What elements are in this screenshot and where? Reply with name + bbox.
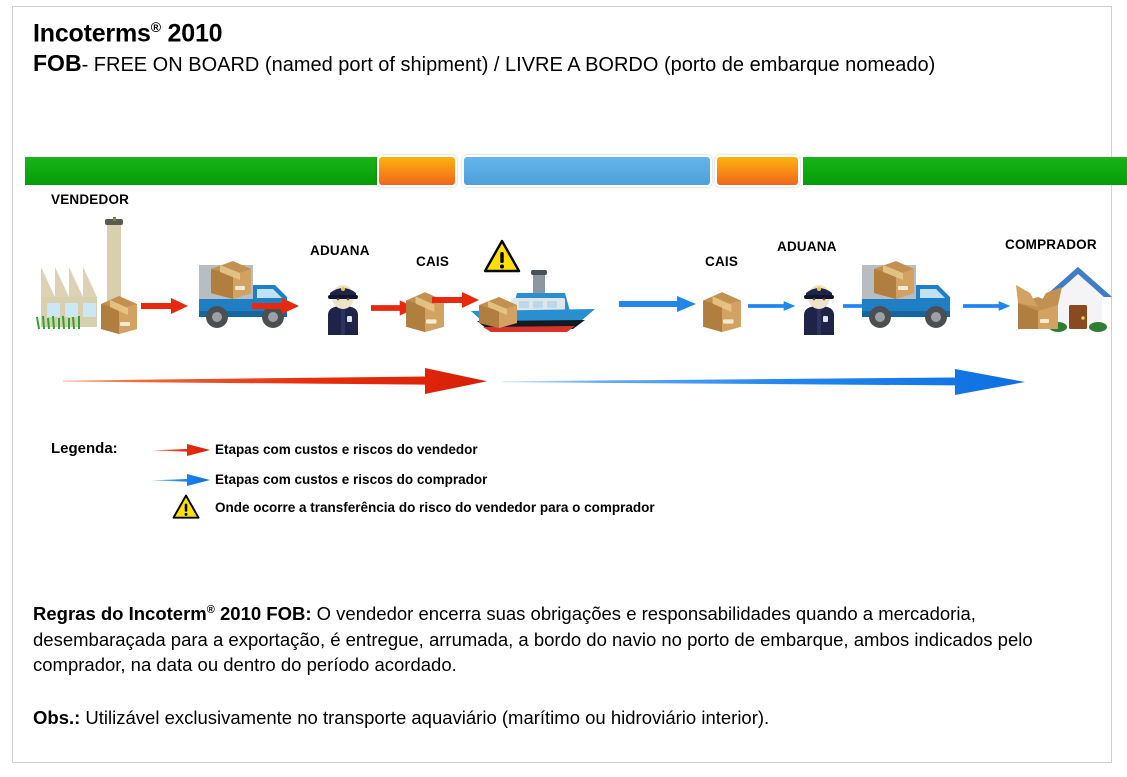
label-aduana-2: ADUANA [777,239,837,254]
ground-strip [25,157,1127,185]
page-frame: Incoterms® 2010 FOB- FREE ON BOARD (name… [12,6,1112,763]
seller-step-arrow-icon [252,297,300,315]
seller-step-arrow-icon [141,297,189,315]
buyer-step-arrow-icon [963,297,1011,315]
ground-segment-quay-left [377,155,457,187]
legend-item-seller-label: Etapas com custos e riscos do vendedor [215,442,478,457]
label-cais-2: CAIS [705,254,738,269]
ship-icon [465,265,625,335]
rules-label-tail: 2010 FOB: [215,603,312,624]
risk-responsibility-arrows [25,359,1125,405]
term-description: - FREE ON BOARD (named port of shipment)… [82,54,936,76]
obs-label: Obs.: [33,707,80,728]
label-comprador: COMPRADOR [1005,237,1097,252]
package-box-icon [98,293,140,335]
buyer-risk-arrow-icon [503,369,1025,395]
legend: Legenda: Etapas com custos e riscos do v… [13,432,1113,527]
legend-red-arrow-icon [151,442,211,458]
buyer-step-arrow-icon [748,297,796,315]
title-year: 2010 [161,19,223,47]
header: Incoterms® 2010 FOB- FREE ON BOARD (name… [33,19,1093,78]
page-subtitle: FOB- FREE ON BOARD (named port of shipme… [33,50,1093,78]
legend-title: Legenda: [51,440,118,457]
label-vendedor: VENDEDOR [51,192,129,207]
risk-arrows-svg [25,359,1125,405]
seller-risk-arrow-icon [63,368,487,394]
package-box-icon [700,289,744,333]
obs-text: Utilizável exclusivamente no transporte … [80,707,769,728]
label-aduana-1: ADUANA [310,243,370,258]
legend-blue-arrow-icon [151,472,211,488]
ground-segment-green-left [25,157,377,185]
registered-mark-icon: ® [151,19,161,35]
incoterm-rules-paragraph: Regras do Incoterm® 2010 FOB: O vendedor… [33,601,1089,678]
legend-item-risk-label: Onde ocorre a transferência do risco do … [215,500,655,515]
rules-registered-mark-icon: ® [207,604,215,616]
term-code: FOB [33,50,82,76]
buyer-step-arrow-icon [619,295,697,313]
customs-officer-icon [321,281,365,335]
ground-segment-quay-right [715,155,800,187]
incoterms-fob-diagram-page: Incoterms® 2010 FOB- FREE ON BOARD (name… [0,0,1127,777]
truck-icon [856,255,961,333]
ground-segment-water [462,155,712,187]
ground-segment-green-right [803,157,1127,185]
page-title: Incoterms® 2010 [33,19,1093,48]
truck-icon [193,255,298,333]
rules-label: Regras do Incoterm [33,603,207,624]
observation-paragraph: Obs.: Utilizável exclusivamente no trans… [33,705,1089,731]
legend-warning-triangle-icon [172,494,200,520]
customs-officer-icon [797,281,841,335]
title-main: Incoterms [33,19,151,47]
house-icon [1016,263,1116,335]
label-cais-1: CAIS [416,254,449,269]
legend-item-buyer-label: Etapas com custos e riscos do comprador [215,472,487,487]
